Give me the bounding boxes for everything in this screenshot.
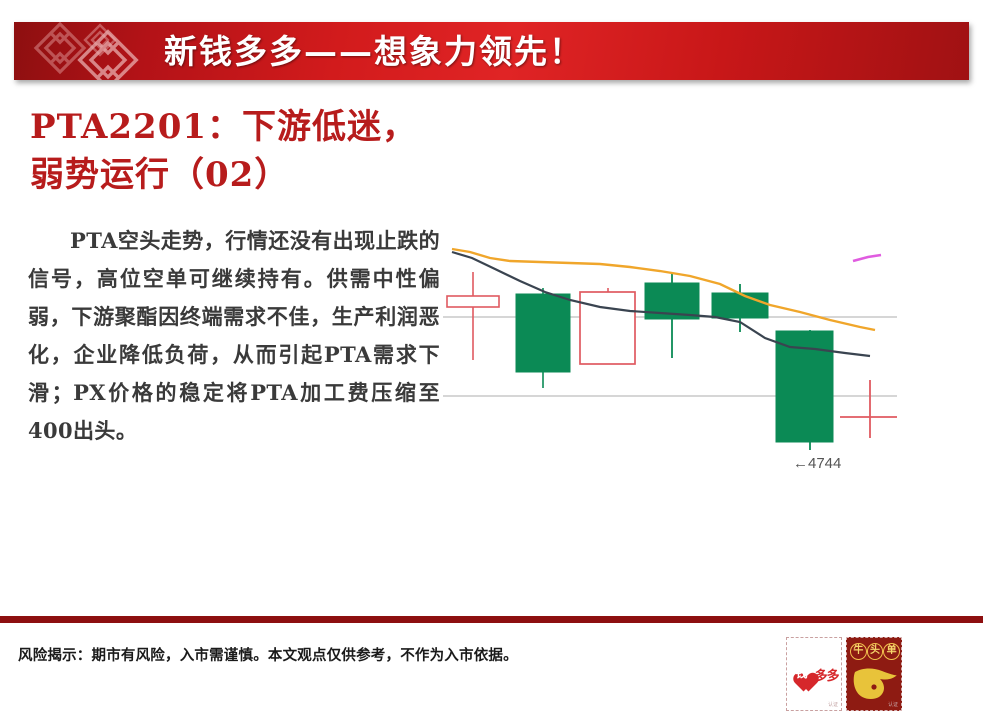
diamond-maze-pattern-icon xyxy=(26,22,156,80)
page-title-line1: PTA2201：下游低迷， xyxy=(30,107,417,147)
logo-heart-char: 钱 xyxy=(789,666,813,681)
header-brand-title: 新钱多多——想象力领先！ xyxy=(164,28,584,76)
body-paragraph: PTA空头走势，行情还没有出现止跌的信号，高位空单可继续持有。供需中性偏弱，下游… xyxy=(28,222,440,450)
page-title-line2: 弱势运行（02） xyxy=(30,151,500,199)
candle-6 xyxy=(840,380,897,438)
candlestick-chart: ←4744 xyxy=(440,225,900,480)
risk-disclaimer: 风险揭示：期市有风险，入市需谨慎。本文观点仅供参考，不作为入市依据。 xyxy=(18,645,758,667)
slide-root: 新钱多多——想象力领先！ PTA2201：下游低迷， 弱势运行（02） PTA空… xyxy=(0,0,983,720)
header-band: 新钱多多——想象力领先！ xyxy=(14,22,969,80)
logo-ntd-char-2: 单 xyxy=(883,643,900,660)
logo-qianduoduo: 钱 多多 认证 xyxy=(786,637,842,711)
logo-ntd-char-0: 牛 xyxy=(850,643,867,660)
candle-2 xyxy=(580,288,635,364)
logo-niutoudan: 牛 头 单 认证 xyxy=(846,637,902,711)
candle-1 xyxy=(516,288,570,388)
bull-head-icon xyxy=(852,662,898,702)
logo-mark: 认证 xyxy=(828,701,838,708)
heart-icon: 钱 xyxy=(789,663,813,685)
ma-magenta-line xyxy=(853,255,881,261)
price-annotation: ←4744 xyxy=(793,455,841,472)
footer-logos: 钱 多多 认证 牛 头 单 认证 xyxy=(786,637,904,713)
chart-svg: ←4744 xyxy=(440,225,900,480)
logo-ntd-char-1: 头 xyxy=(867,643,884,660)
candle-4 xyxy=(712,284,768,332)
footer-divider xyxy=(0,616,983,623)
candle-0 xyxy=(447,272,499,360)
logo-two-mark: 认证 xyxy=(888,701,898,708)
page-title: PTA2201：下游低迷， 弱势运行（02） xyxy=(30,103,500,199)
